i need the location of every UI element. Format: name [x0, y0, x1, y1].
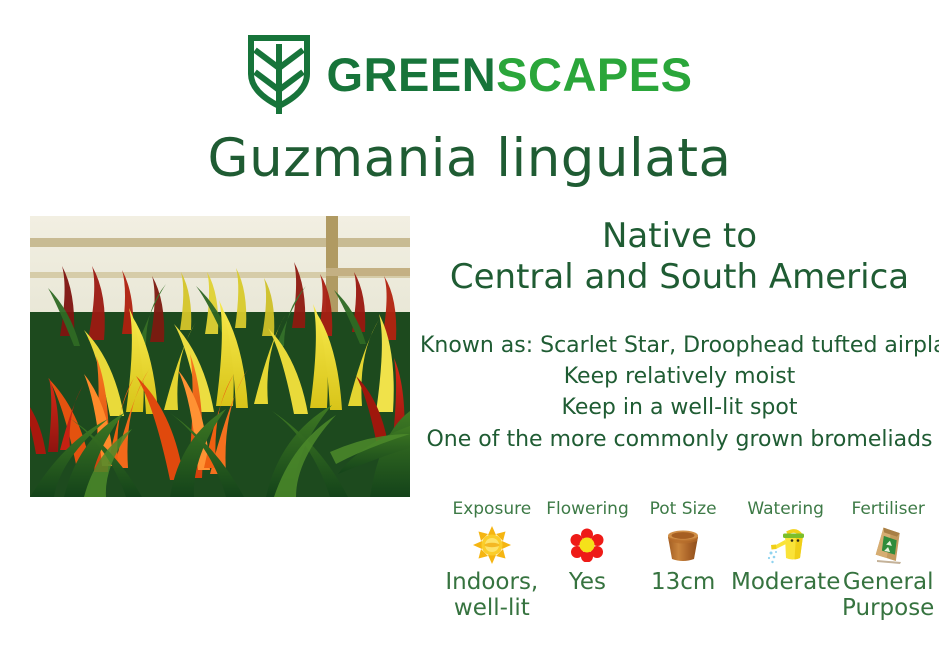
spec-column-watering: Watering Moderate	[731, 500, 840, 595]
fertiliser-bag-icon	[868, 523, 908, 567]
plant-pot-icon	[663, 523, 703, 567]
brand-name-part1: GREEN	[327, 48, 497, 101]
spec-value-flowering: Yes	[569, 569, 606, 595]
brand-wordmark: GREENSCAPES	[327, 51, 693, 98]
spec-label-watering: Watering	[747, 500, 824, 519]
care-spec-table: Exposure Indoors, well-lit	[444, 500, 936, 622]
care-line-commonly: One of the more commonly grown bromeliad…	[420, 424, 939, 455]
care-notes: Known as: Scarlet Star, Droophead tufted…	[420, 330, 939, 455]
spec-value-pot-size: 13cm	[651, 569, 715, 595]
care-line-moist: Keep relatively moist	[420, 361, 939, 392]
spec-column-flowering: Flowering Yes	[540, 500, 636, 595]
spec-label-flowering: Flowering	[546, 500, 629, 519]
native-line-2: Central and South America	[420, 257, 939, 298]
watering-can-icon	[765, 523, 807, 567]
spec-column-pot-size: Pot Size 13cm	[635, 500, 731, 595]
leaf-shield-icon	[247, 34, 311, 114]
care-line-well-lit: Keep in a well-lit spot	[420, 392, 939, 423]
native-region: Native to Central and South America	[420, 216, 939, 299]
brand-name-part2: SCAPES	[496, 48, 692, 101]
spec-column-fertiliser: Fertiliser General Purpose	[840, 500, 936, 622]
bromeliad-plants-photo	[30, 216, 410, 497]
spec-value-fertiliser: General Purpose	[840, 569, 936, 622]
sun-icon	[473, 523, 511, 567]
spec-label-pot-size: Pot Size	[650, 500, 717, 519]
native-line-1: Native to	[420, 216, 939, 257]
spec-label-exposure: Exposure	[452, 500, 531, 519]
spec-column-exposure: Exposure Indoors, well-lit	[444, 500, 540, 622]
flower-icon	[570, 523, 604, 567]
page-title: Guzmania lingulata	[0, 131, 939, 187]
brand-logo: GREENSCAPES	[0, 34, 939, 114]
care-line-known-as: Known as: Scarlet Star, Droophead tufted…	[420, 330, 939, 361]
spec-value-watering: Moderate	[731, 569, 840, 595]
spec-label-fertiliser: Fertiliser	[851, 500, 924, 519]
spec-value-exposure: Indoors, well-lit	[444, 569, 540, 622]
